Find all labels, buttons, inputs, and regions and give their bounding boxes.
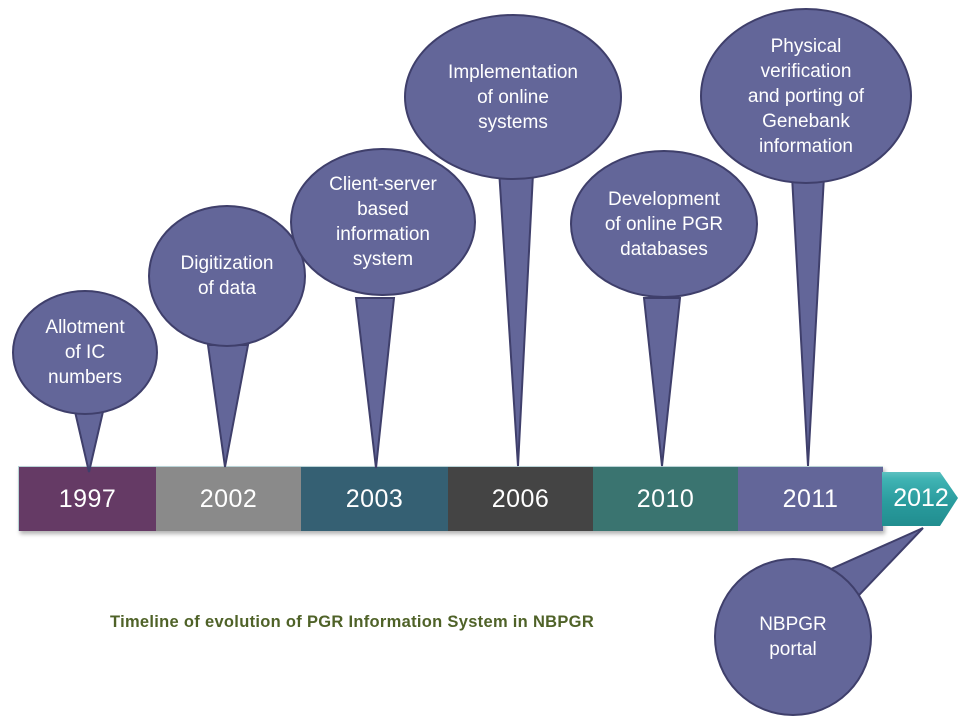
callout-bubble-2011[interactable]: Physical verification and porting of Gen… [700, 8, 912, 184]
callout-bubble-2010[interactable]: Development of online PGR databases [570, 150, 758, 298]
callout-text-2011: Physical verification and porting of Gen… [748, 34, 864, 159]
timeline-segment-label: 2006 [492, 485, 550, 513]
callout-bubble-1997[interactable]: Allotment of IC numbers [12, 290, 158, 415]
timeline-diagram: 1997 2002 2003 2006 2010 2011 2012 Allot… [0, 0, 960, 720]
callout-text-1997: Allotment of IC numbers [45, 315, 124, 390]
timeline-segment-label: 2011 [783, 485, 839, 513]
callout-text-2012: NBPGR portal [759, 612, 827, 662]
diagram-caption: Timeline of evolution of PGR Information… [110, 613, 594, 632]
callout-bubble-2002[interactable]: Digitization of data [148, 205, 306, 347]
callout-text-2003: Client-server based information system [329, 172, 437, 272]
timeline-segment-label: 2012 [893, 484, 949, 512]
callout-bubble-2012[interactable]: NBPGR portal [714, 558, 872, 716]
timeline-segment-label: 2010 [637, 485, 695, 513]
callout-bubble-2003[interactable]: Client-server based information system [290, 148, 476, 296]
callout-text-2006: Implementation of online systems [448, 60, 578, 135]
callout-text-2002: Digitization of data [181, 251, 274, 301]
callout-bubble-2006[interactable]: Implementation of online systems [404, 14, 622, 180]
timeline-segment-label: 2003 [346, 485, 404, 513]
callout-text-2010: Development of online PGR databases [605, 187, 723, 262]
